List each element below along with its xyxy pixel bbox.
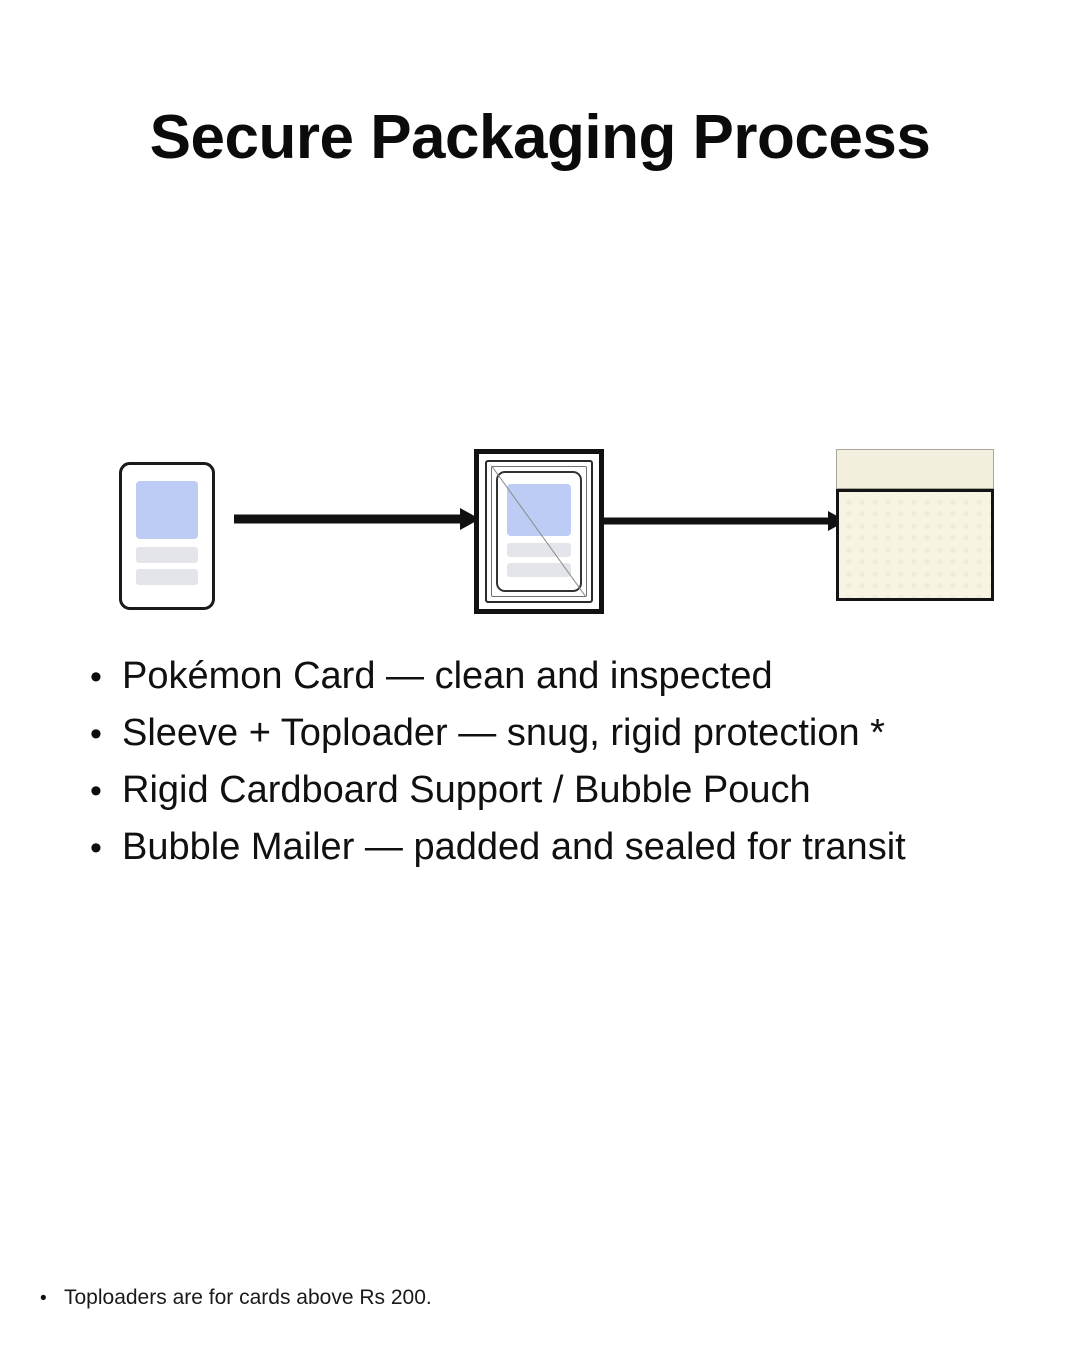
list-item-label: Sleeve + Toploader — snug, rigid protect… bbox=[122, 705, 885, 761]
arrow-right-icon bbox=[604, 506, 846, 536]
list-item-label: Pokémon Card — clean and inspected bbox=[122, 648, 773, 704]
trading-card-icon bbox=[119, 462, 215, 610]
list-item: • Rigid Cardboard Support / Bubble Pouch bbox=[90, 762, 1050, 819]
bullet-marker: • bbox=[90, 763, 122, 819]
bullet-marker: • bbox=[90, 820, 122, 876]
list-item: • Sleeve + Toploader — snug, rigid prote… bbox=[90, 705, 1050, 762]
bullet-marker: • bbox=[40, 1284, 64, 1314]
mailer-flap bbox=[836, 449, 994, 489]
mailer-body bbox=[836, 489, 994, 601]
arrow-2-svg bbox=[604, 506, 846, 536]
bullet-marker: • bbox=[90, 706, 122, 762]
card-artwork-block bbox=[136, 481, 198, 539]
card-text-bar bbox=[507, 563, 571, 577]
page-title: Secure Packaging Process bbox=[0, 105, 1080, 170]
card-text-bar bbox=[136, 547, 198, 563]
bubble-wrap-pattern bbox=[839, 492, 991, 598]
footnote: • Toploaders are for cards above Rs 200. bbox=[40, 1283, 432, 1314]
card-face bbox=[125, 468, 209, 604]
card-artwork-block bbox=[507, 484, 571, 536]
slide-canvas: Secure Packaging Process bbox=[0, 0, 1080, 1350]
trading-card-icon-inside bbox=[496, 471, 582, 592]
card-text-bar bbox=[136, 569, 198, 585]
arrow-1-svg bbox=[234, 504, 480, 534]
list-item-label: Rigid Cardboard Support / Bubble Pouch bbox=[122, 762, 811, 818]
bullet-marker: • bbox=[90, 649, 122, 705]
arrow-right-icon bbox=[234, 504, 480, 534]
list-item: • Pokémon Card — clean and inspected bbox=[90, 648, 1050, 705]
list-item: • Bubble Mailer — padded and sealed for … bbox=[90, 819, 1050, 876]
list-item-label: Bubble Mailer — padded and sealed for tr… bbox=[122, 819, 906, 875]
footnote-label: Toploaders are for cards above Rs 200. bbox=[64, 1283, 432, 1313]
toploader-icon bbox=[474, 449, 604, 614]
bubble-mailer-icon bbox=[836, 449, 994, 601]
card-text-bar bbox=[507, 543, 571, 557]
sleeve-icon bbox=[485, 460, 593, 603]
packaging-flow-diagram bbox=[0, 440, 1080, 620]
packaging-steps-list: • Pokémon Card — clean and inspected • S… bbox=[90, 648, 1050, 876]
